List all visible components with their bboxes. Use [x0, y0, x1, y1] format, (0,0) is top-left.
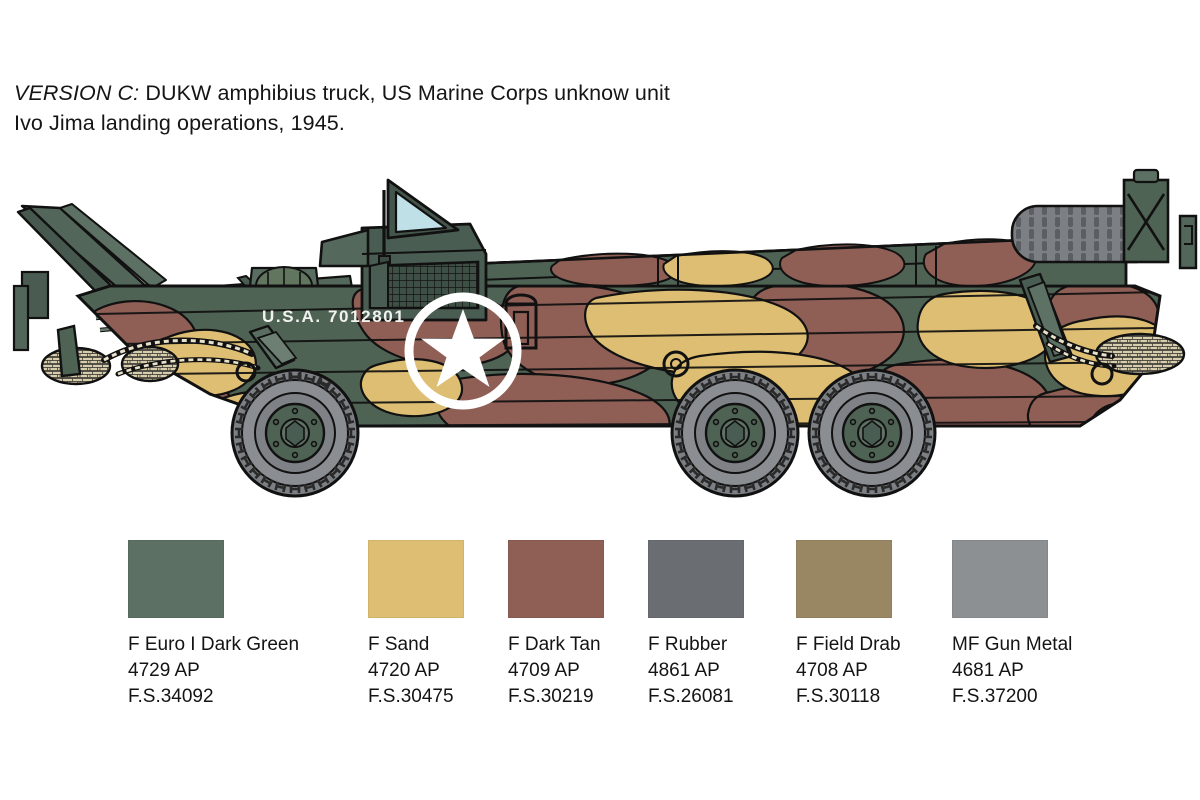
swatch-code-4: 4708 AP	[796, 658, 901, 684]
swatch-fs-1: F.S.30475	[368, 684, 464, 710]
swatch-cell-0: F Euro I Dark Green 4729 AP F.S.34092	[128, 540, 299, 710]
swatch-name-2: F Dark Tan	[508, 632, 604, 658]
swatch-cell-1: F Sand 4720 AP F.S.30475	[368, 540, 464, 710]
swatch-fs-2: F.S.30219	[508, 684, 604, 710]
swatch-name-1: F Sand	[368, 632, 464, 658]
swatch-name-3: F Rubber	[648, 632, 744, 658]
caption-line-1: VERSION C: DUKW amphibius truck, US Mari…	[14, 78, 1014, 108]
swatch-cell-3: F Rubber 4861 AP F.S.26081	[648, 540, 744, 710]
swatch-caption-1: F Sand 4720 AP F.S.30475	[368, 632, 464, 710]
swatch-code-2: 4709 AP	[508, 658, 604, 684]
color-swatch-f-dark-tan	[508, 540, 604, 618]
swatch-cell-5: MF Gun Metal 4681 AP F.S.37200	[952, 540, 1072, 710]
wheel-middle	[672, 370, 798, 496]
swatch-caption-0: F Euro I Dark Green 4729 AP F.S.34092	[128, 632, 299, 710]
color-swatch-mf-gun-metal	[952, 540, 1048, 618]
caption-line-2: Ivo Jima landing operations, 1945.	[14, 108, 1014, 138]
color-swatch-f-sand	[368, 540, 464, 618]
vehicle-illustration: U.S.A. 7012801	[0, 168, 1200, 518]
page-root: VERSION C: DUKW amphibius truck, US Mari…	[0, 0, 1200, 800]
swatch-caption-5: MF Gun Metal 4681 AP F.S.37200	[952, 632, 1072, 710]
version-label: VERSION C:	[14, 81, 139, 105]
swatch-fs-5: F.S.37200	[952, 684, 1072, 710]
swatch-caption-4: F Field Drab 4708 AP F.S.30118	[796, 632, 901, 710]
swatch-code-1: 4720 AP	[368, 658, 464, 684]
swatch-fs-4: F.S.30118	[796, 684, 901, 710]
swatch-fs-0: F.S.34092	[128, 684, 299, 710]
swatch-fs-3: F.S.26081	[648, 684, 744, 710]
swatch-cell-2: F Dark Tan 4709 AP F.S.30219	[508, 540, 604, 710]
swatch-code-3: 4861 AP	[648, 658, 744, 684]
swatch-code-0: 4729 AP	[128, 658, 299, 684]
caption-line-1-rest: DUKW amphibius truck, US Marine Corps un…	[139, 81, 670, 105]
paint-color-chart: F Euro I Dark Green 4729 AP F.S.34092 F …	[0, 540, 1200, 730]
version-caption: VERSION C: DUKW amphibius truck, US Mari…	[14, 78, 1014, 138]
hull-registration-number: U.S.A. 7012801	[262, 307, 405, 326]
color-swatch-f-field-drab	[796, 540, 892, 618]
swatch-caption-3: F Rubber 4861 AP F.S.26081	[648, 632, 744, 710]
color-swatch-f-rubber	[648, 540, 744, 618]
dukw-side-profile-svg: U.S.A. 7012801	[0, 168, 1200, 518]
swatch-cell-4: F Field Drab 4708 AP F.S.30118	[796, 540, 901, 710]
windshield-glass	[396, 192, 446, 232]
swatch-name-0: F Euro I Dark Green	[128, 632, 299, 658]
swatch-caption-2: F Dark Tan 4709 AP F.S.30219	[508, 632, 604, 710]
swatch-code-5: 4681 AP	[952, 658, 1072, 684]
swatch-name-5: MF Gun Metal	[952, 632, 1072, 658]
wheel-arches	[232, 404, 360, 426]
wheel-front	[232, 370, 358, 496]
color-swatch-f-euro-i-dark-green	[128, 540, 224, 618]
swatch-name-4: F Field Drab	[796, 632, 901, 658]
wheel-rear	[809, 370, 935, 496]
